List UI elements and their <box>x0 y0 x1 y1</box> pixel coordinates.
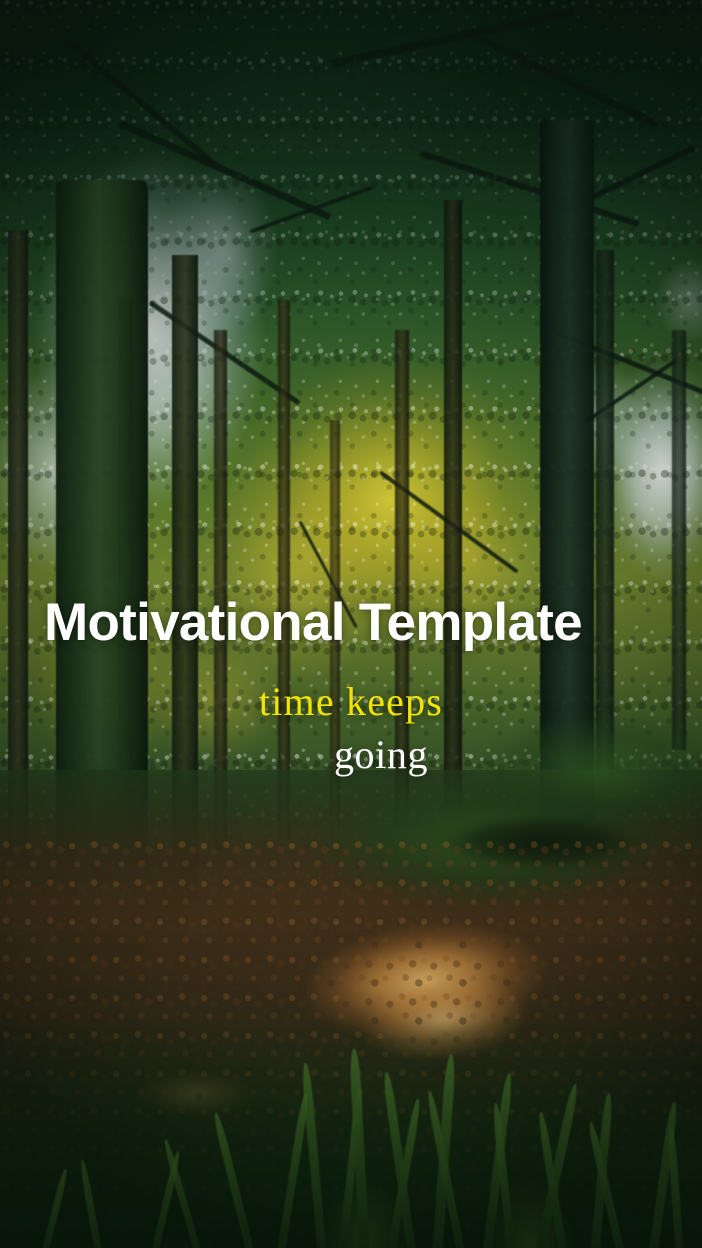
subtitle-line-1: time keeps <box>0 682 702 722</box>
headline-title: Motivational Template <box>0 596 702 649</box>
text-overlay: Motivational Template time keeps going <box>0 0 702 1248</box>
story-template-frame: Motivational Template time keeps going <box>0 0 702 1248</box>
subtitle-line-2: going <box>0 735 702 775</box>
